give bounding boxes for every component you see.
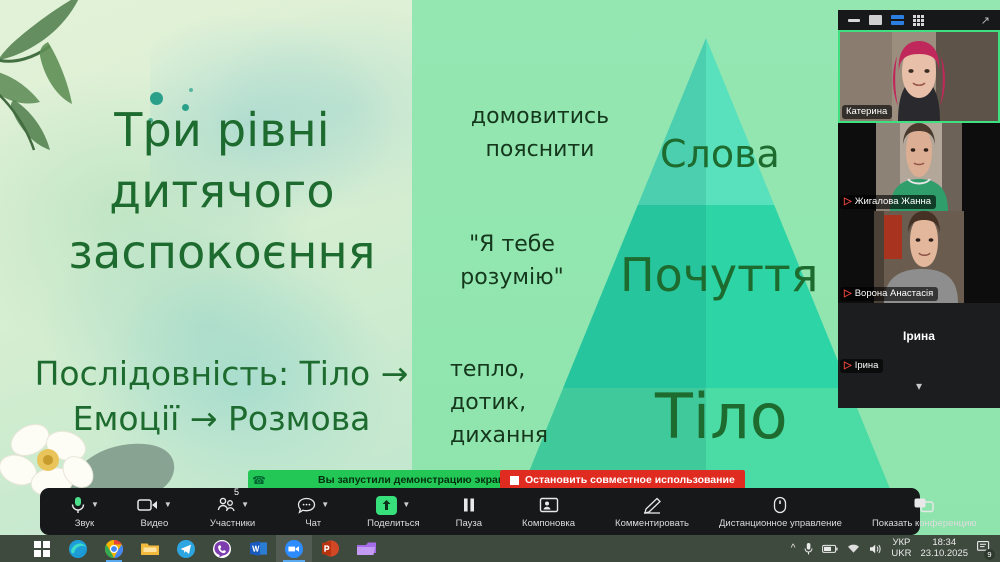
- language-indicator[interactable]: УКР UKR: [891, 538, 911, 560]
- taskbar-apps: [0, 535, 384, 562]
- toolbar-button-annotate[interactable]: Комментировать: [611, 488, 693, 535]
- toolbar-label: Видео: [141, 518, 169, 529]
- toolbar-label: Поделиться: [367, 518, 419, 529]
- minimize-icon[interactable]: [848, 19, 860, 22]
- resize-arrow-icon[interactable]: ↗: [981, 14, 990, 27]
- toolbar-button-share[interactable]: ▼ Поделиться: [363, 488, 423, 535]
- chrome-icon: [104, 539, 124, 559]
- taskbar-app-file-explorer[interactable]: [132, 535, 168, 562]
- participant-name-label: Катерина: [842, 105, 892, 119]
- mic-muted-icon: ▷: [844, 197, 852, 207]
- battery-icon[interactable]: [822, 544, 838, 554]
- show-meeting-icon: [913, 497, 935, 513]
- participants-count-badge: 5: [234, 487, 239, 497]
- clock[interactable]: 18:34 23.10.2025: [920, 538, 968, 560]
- participant-name-label: ▷ Ворона Анастасія: [840, 287, 938, 301]
- chevron-down-icon[interactable]: ▼: [164, 501, 172, 509]
- video-tile[interactable]: ▷ Ворона Анастасія: [838, 211, 1000, 303]
- stop-sharing-button[interactable]: Остановить совместное использование: [500, 470, 745, 490]
- taskbar-app-word[interactable]: [240, 535, 276, 562]
- notifications-count: 9: [984, 549, 995, 560]
- microphone-icon: [70, 496, 86, 514]
- toolbar-label: Показать конференцию: [872, 518, 977, 529]
- windows-taskbar: ^ УКР UKR: [0, 535, 1000, 562]
- video-tile-no-video[interactable]: Ірина ▷ Ірина: [838, 303, 1000, 375]
- pyramid-label-middle: Почуття: [620, 248, 818, 302]
- participant-name-label: ▷ Ірина: [840, 359, 883, 373]
- split-view-icon[interactable]: [891, 15, 904, 25]
- pause-icon: [462, 497, 476, 513]
- video-camera-icon: [137, 498, 159, 512]
- file-explorer-icon: [140, 540, 160, 557]
- chevron-down-icon[interactable]: ▼: [91, 501, 99, 509]
- chevron-down-icon[interactable]: ▼: [241, 501, 249, 509]
- screen: Три рівні дитячого заспокоєння Послідовн…: [0, 0, 1000, 562]
- video-tile[interactable]: Катерина: [838, 30, 1000, 123]
- zoom-icon: [284, 539, 304, 559]
- toolbar-label: Дистанционное управление: [719, 518, 842, 529]
- windows-start-button[interactable]: [24, 535, 60, 562]
- toolbar-label: Компоновка: [522, 518, 575, 529]
- edge-icon: [68, 539, 88, 559]
- taskbar-app-telegram[interactable]: [168, 535, 204, 562]
- toolbar-label: Чат: [305, 518, 321, 529]
- microphone-icon[interactable]: [804, 542, 813, 556]
- chevron-up-icon[interactable]: ^: [791, 543, 796, 554]
- toolbar-button-chat[interactable]: ▼ Чат: [293, 488, 333, 535]
- pyramid-note-top: домовитись пояснити: [440, 100, 640, 166]
- toolbar-label: Участники: [210, 518, 255, 529]
- telegram-icon: [176, 539, 196, 559]
- slide-subtitle: Послідовність: Тіло → Емоції → Розмова: [34, 352, 409, 442]
- stop-square-icon: [510, 476, 519, 485]
- toolbar-label: Комментировать: [615, 518, 689, 529]
- chevron-down-icon: ▾: [916, 379, 922, 393]
- remote-control-icon: [773, 496, 787, 514]
- share-status-text: Вы запустили демонстрацию экрана: [270, 474, 510, 486]
- toolbar-label: Пауза: [456, 518, 482, 529]
- taskbar-app-viber[interactable]: [204, 535, 240, 562]
- mic-muted-icon: ▷: [844, 289, 852, 299]
- taskbar-app-powerpoint[interactable]: [312, 535, 348, 562]
- layout-icon: [539, 497, 559, 513]
- system-tray: ^ УКР UKR: [791, 538, 1000, 560]
- single-view-icon[interactable]: [869, 15, 882, 25]
- pyramid-note-middle: "Я тебе розумію": [422, 228, 602, 294]
- participants-icon: [216, 497, 236, 513]
- toolbar-button-pause[interactable]: Пауза: [452, 488, 486, 535]
- wifi-icon[interactable]: [847, 543, 860, 554]
- powerpoint-icon: [321, 539, 340, 558]
- pyramid-label-top: Слова: [660, 132, 780, 176]
- toolbar-button-video[interactable]: ▼ Видео: [133, 488, 176, 535]
- paint-dot: [189, 88, 193, 92]
- participant-display-name: Ірина: [838, 329, 1000, 343]
- viber-icon: [212, 539, 232, 559]
- phone-icon: ☎: [248, 474, 270, 487]
- video-tile[interactable]: ▷ Жигалова Жанна: [838, 123, 1000, 211]
- pyramid-label-bottom: Тіло: [655, 380, 788, 453]
- toolbar-label: Звук: [75, 518, 94, 529]
- toolbar-button-participants[interactable]: 5 ▼ Участники: [206, 488, 259, 535]
- chevron-down-icon[interactable]: ▼: [321, 501, 329, 509]
- panel-layout-controls: ↗: [838, 10, 1000, 30]
- share-screen-icon: [376, 496, 397, 515]
- slide-title: Три рівні дитячого заспокоєння: [42, 100, 402, 284]
- pyramid-note-bottom: тепло, дотик, дихання: [450, 353, 610, 452]
- taskbar-app-chrome[interactable]: [96, 535, 132, 562]
- taskbar-app-onedrive[interactable]: [348, 535, 384, 562]
- windows-start-icon: [34, 541, 50, 557]
- chevron-down-icon[interactable]: ▼: [402, 501, 410, 509]
- zoom-toolbar: ▼ Звук ▼ Видео 5: [40, 488, 920, 535]
- participants-video-panel: ↗ Катерина: [838, 10, 1000, 408]
- taskbar-app-edge[interactable]: [60, 535, 96, 562]
- toolbar-button-remote-control[interactable]: Дистанционное управление: [715, 488, 846, 535]
- mic-muted-icon: ▷: [844, 361, 852, 371]
- toolbar-button-show-meeting[interactable]: Показать конференцию: [868, 488, 981, 535]
- taskbar-app-zoom[interactable]: [276, 535, 312, 562]
- toolbar-button-audio[interactable]: ▼ Звук: [66, 488, 103, 535]
- annotate-pen-icon: [642, 497, 662, 514]
- notifications-button[interactable]: 9: [977, 540, 992, 557]
- volume-icon[interactable]: [869, 543, 882, 555]
- onedrive-purple-icon: [355, 541, 377, 557]
- participant-name-label: ▷ Жигалова Жанна: [840, 195, 936, 209]
- stop-sharing-label: Остановить совместное использование: [525, 474, 735, 486]
- word-icon: [249, 539, 268, 558]
- toolbar-button-layout[interactable]: Компоновка: [518, 488, 579, 535]
- chat-bubble-icon: [297, 497, 316, 514]
- panel-expand-button[interactable]: ▾: [838, 375, 1000, 397]
- gallery-grid-icon[interactable]: [913, 15, 926, 25]
